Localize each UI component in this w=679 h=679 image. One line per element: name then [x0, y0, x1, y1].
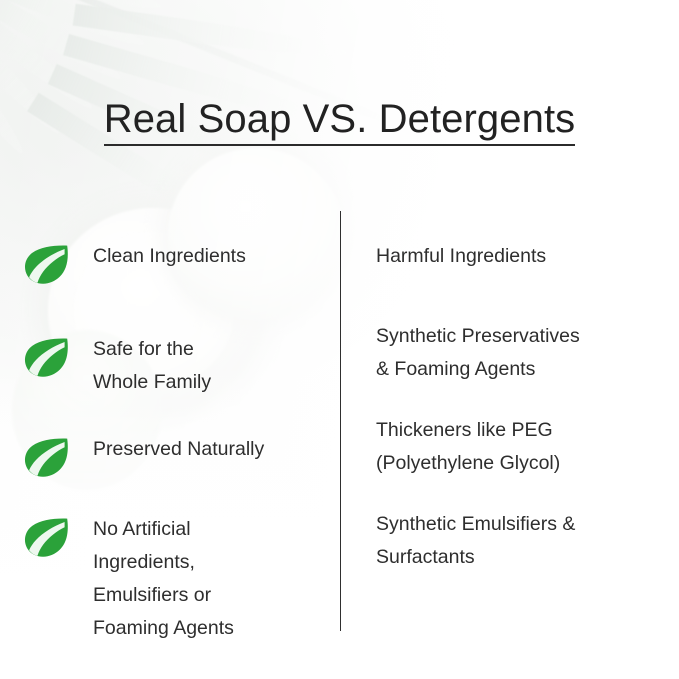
leaf-icon — [22, 433, 93, 479]
list-item-label: Synthetic Emulsifiers & Surfactants — [376, 508, 575, 574]
column-divider — [340, 211, 341, 631]
list-item-label: Harmful Ingredients — [376, 240, 546, 273]
list-item-label: Synthetic Preservatives & Foaming Agents — [376, 320, 580, 386]
list-item: Thickeners like PEG (Polyethylene Glycol… — [376, 414, 662, 480]
comparison-infographic: Real Soap VS. Detergents Clean Ingredien… — [0, 0, 679, 679]
list-item: Safe for the Whole Family — [22, 333, 322, 399]
leaf-icon — [22, 513, 93, 559]
list-item-label: No Artificial Ingredients, Emulsifiers o… — [93, 513, 234, 645]
list-item: Clean Ingredients — [22, 240, 322, 286]
list-item-label: Preserved Naturally — [93, 433, 264, 466]
page-title-text: Real Soap VS. Detergents — [104, 97, 576, 146]
list-item-label: Clean Ingredients — [93, 240, 246, 273]
content-layer: Real Soap VS. Detergents Clean Ingredien… — [0, 0, 679, 679]
list-item: Synthetic Preservatives & Foaming Agents — [376, 320, 662, 386]
list-item: Harmful Ingredients — [376, 240, 662, 273]
leaf-icon — [22, 333, 93, 379]
list-item: No Artificial Ingredients, Emulsifiers o… — [22, 513, 322, 645]
leaf-icon — [22, 240, 93, 286]
list-item-label: Thickeners like PEG (Polyethylene Glycol… — [376, 414, 560, 480]
list-item: Synthetic Emulsifiers & Surfactants — [376, 508, 662, 574]
column-detergents: Harmful Ingredients Synthetic Preservati… — [376, 240, 662, 574]
list-item-label: Safe for the Whole Family — [93, 333, 211, 399]
list-item: Preserved Naturally — [22, 433, 322, 479]
column-real-soap: Clean Ingredients Safe for the Whole Fam… — [22, 240, 322, 645]
page-title: Real Soap VS. Detergents — [0, 96, 679, 142]
